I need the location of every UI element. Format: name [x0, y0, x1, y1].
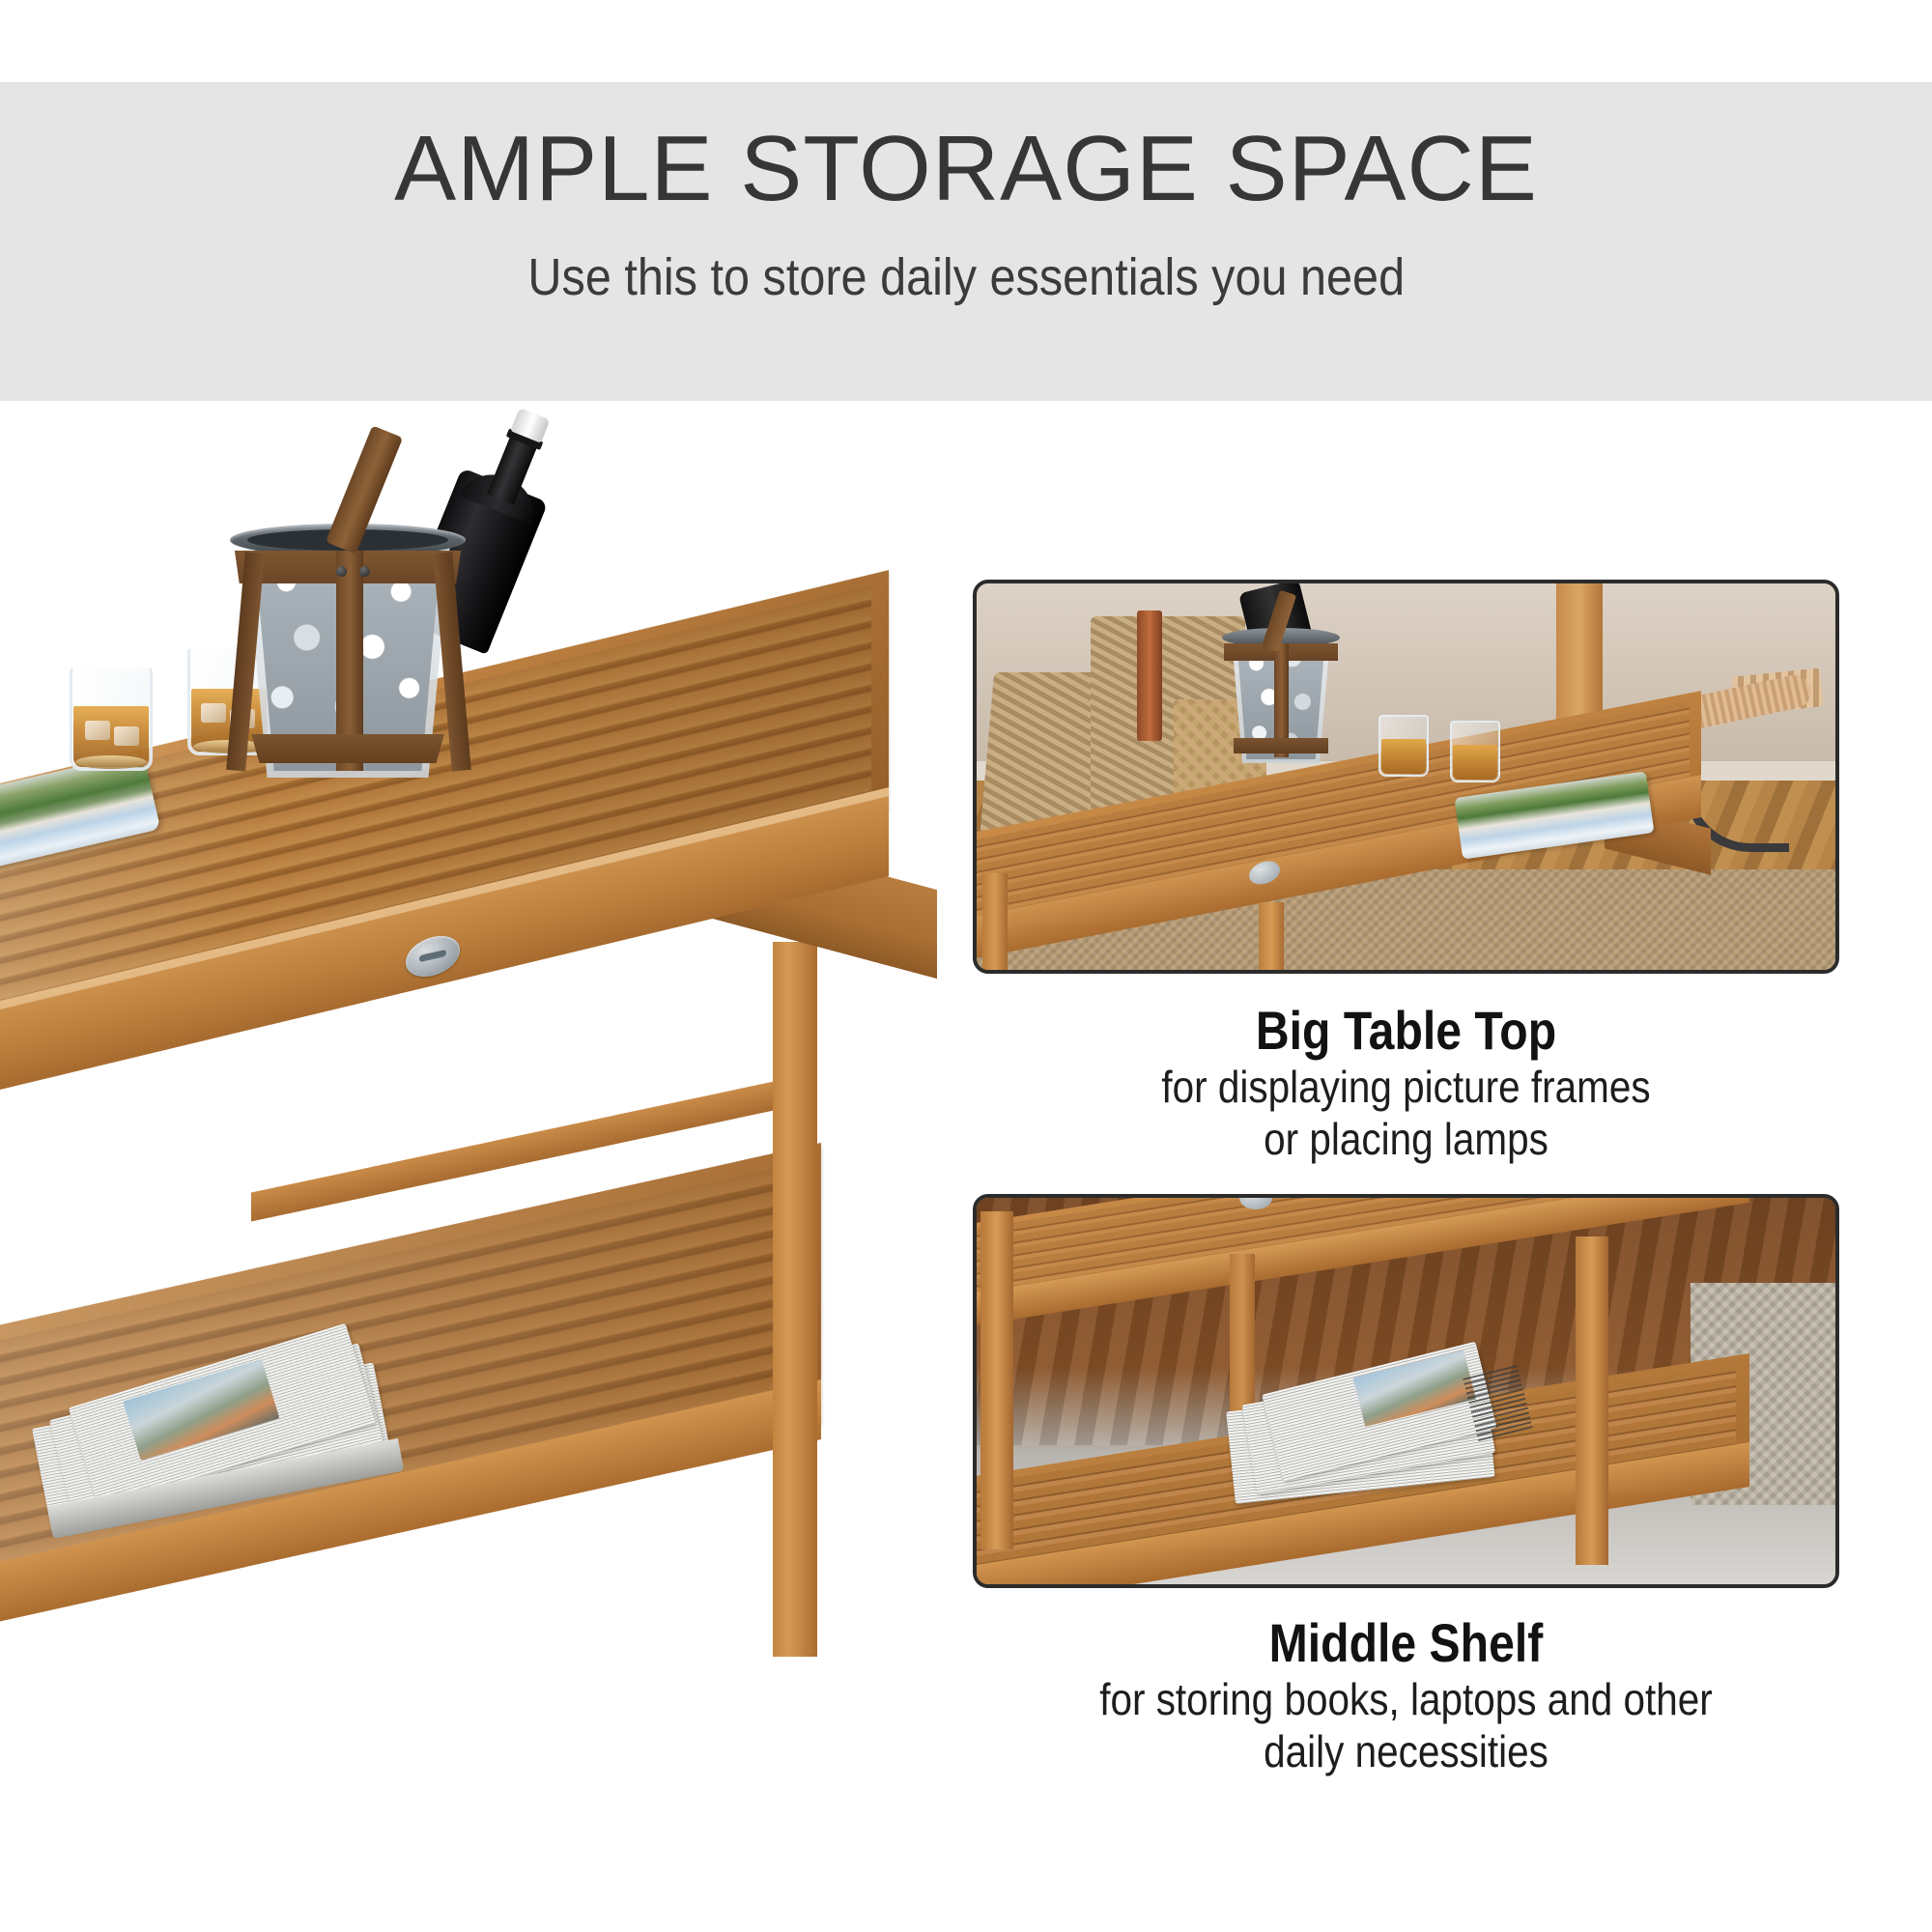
- feature-desc-line-2: daily necessities: [1025, 1725, 1787, 1777]
- ice-cube: [114, 726, 139, 746]
- whiskey-liquid: [1381, 739, 1426, 774]
- feature-column: Big Table Top for displaying picture fra…: [973, 580, 1839, 1845]
- ice-bucket: [1218, 593, 1344, 777]
- whiskey-glass: [70, 667, 153, 771]
- ice-cube: [85, 721, 110, 740]
- whiskey-glass: [1378, 715, 1429, 777]
- feature-desc-line-1: for displaying picture frames: [1025, 1061, 1787, 1113]
- newspaper-masthead: [1463, 1365, 1533, 1444]
- feature-title: Middle Shelf: [1034, 1613, 1778, 1673]
- bucket-metal-band-bottom: [247, 734, 448, 763]
- ice-bucket: [222, 444, 473, 802]
- feature-desc-line-2: or placing lamps: [1025, 1113, 1787, 1165]
- feature-inset-photo-middle-shelf: [973, 1194, 1839, 1588]
- feature-caption-middle-shelf: Middle Shelf for storing books, laptops …: [973, 1613, 1839, 1777]
- header-banner: AMPLE STORAGE SPACE Use this to store da…: [0, 82, 1932, 401]
- leather-strap: [1137, 611, 1162, 741]
- bucket-metal-band-bottom: [1234, 738, 1328, 753]
- hero-product-photo: [0, 401, 966, 1932]
- page-title: AMPLE STORAGE SPACE: [394, 121, 1538, 218]
- glass-base: [75, 755, 147, 769]
- page-subtitle: Use this to store daily essentials you n…: [527, 247, 1405, 307]
- table-leg-right: [773, 942, 817, 1657]
- feature-inset-photo-big-table-top: [973, 580, 1839, 974]
- newspaper-photo: [123, 1359, 279, 1461]
- whiskey-liquid: [1453, 745, 1497, 780]
- table-leg-front: [1259, 902, 1284, 974]
- feature-desc-line-1: for storing books, laptops and other: [1025, 1673, 1787, 1725]
- feature-title: Big Table Top: [1034, 1001, 1778, 1061]
- table-leg-left: [982, 873, 1008, 974]
- table-leg-right: [1576, 1236, 1608, 1565]
- rivet-icon: [359, 566, 370, 577]
- feature-caption-big-table-top: Big Table Top for displaying picture fra…: [973, 1001, 1839, 1165]
- table-leg-left: [980, 1211, 1013, 1549]
- rivet-icon: [336, 566, 347, 577]
- whiskey-glass: [1450, 721, 1500, 782]
